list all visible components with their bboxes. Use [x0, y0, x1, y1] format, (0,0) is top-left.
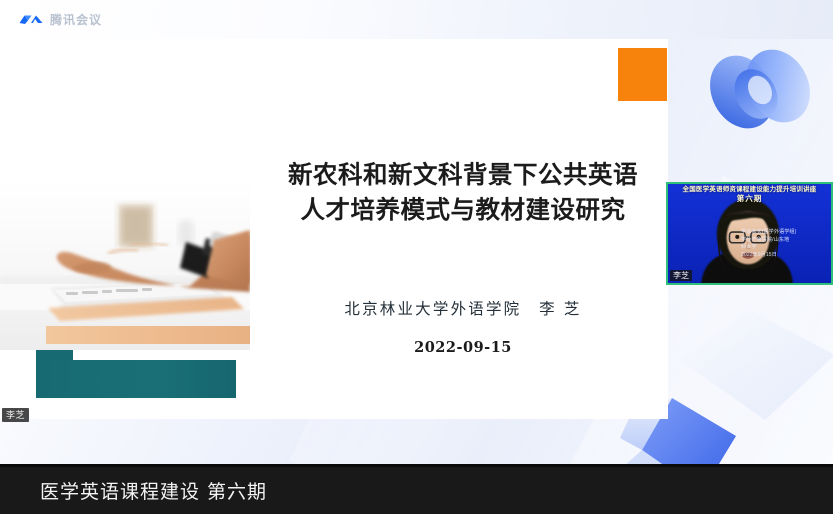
tencent-meeting-logo-icon — [18, 12, 44, 28]
brand-bar: 腾讯会议 — [0, 0, 833, 39]
bottom-caption-bar: 医学英语课程建设 第六期 — [0, 464, 833, 514]
video-participant-nametag: 李芝 — [670, 270, 692, 281]
slide-orange-accent-square — [618, 48, 667, 101]
screen-root: 新农科和新文科背景下公共英语 人才培养模式与教材建设研究 北京林业大学外语学院 … — [0, 0, 833, 514]
video-feed: 全国医学英语师资课程建设能力提升培训讲座 第六期 学会会长(医学外语学组) 学及… — [668, 184, 831, 283]
slide-date: 2022-09-15 — [268, 339, 658, 356]
slide-title-line-1: 新农科和新文科背景下公共英语 — [268, 157, 658, 192]
video-overlay-side-info: 学会会长(医学外语学组) 学及齐鲁医院/山东地 科大学 2022年9月15日 — [741, 229, 827, 259]
slide-title-line-2: 人才培养模式与教材建设研究 — [268, 192, 658, 227]
slide-byline: 北京林业大学外语学院 李 芝 — [268, 297, 658, 319]
video-side-info-line-2: 学及齐鲁医院/山东地 — [741, 237, 827, 245]
video-banner-line-2: 第六期 — [668, 195, 831, 204]
video-side-info-line-4: 2022年9月15日 — [741, 252, 827, 260]
slide-laptop-photo — [0, 180, 250, 350]
video-banner-line-1: 全国医学英语师资课程建设能力提升培训讲座 — [683, 186, 817, 193]
shared-screen-stage[interactable]: 新农科和新文科背景下公共英语 人才培养模式与教材建设研究 北京林业大学外语学院 … — [0, 0, 833, 464]
glass-ring-decoration-icon — [700, 42, 818, 138]
shared-slide[interactable]: 新农科和新文科背景下公共英语 人才培养模式与教材建设研究 北京林业大学外语学院 … — [0, 39, 668, 419]
video-overlay-banner: 全国医学英语师资课程建设能力提升培训讲座 第六期 — [668, 186, 831, 203]
video-side-info-line-3: 科大学 — [741, 244, 827, 252]
slide-title: 新农科和新文科背景下公共英语 人才培养模式与教材建设研究 — [268, 157, 658, 227]
share-presenter-nametag: 李芝 — [2, 408, 29, 422]
video-side-info-line-1: 学会会长(医学外语学组) — [741, 229, 827, 237]
bottom-caption-title: 医学英语课程建设 第六期 — [40, 477, 267, 504]
slide-teal-bracket-horizontal — [36, 360, 236, 398]
brand-name-label: 腾讯会议 — [50, 11, 102, 28]
participant-video-tile[interactable]: 全国医学英语师资课程建设能力提升培训讲座 第六期 学会会长(医学外语学组) 学及… — [666, 182, 833, 285]
